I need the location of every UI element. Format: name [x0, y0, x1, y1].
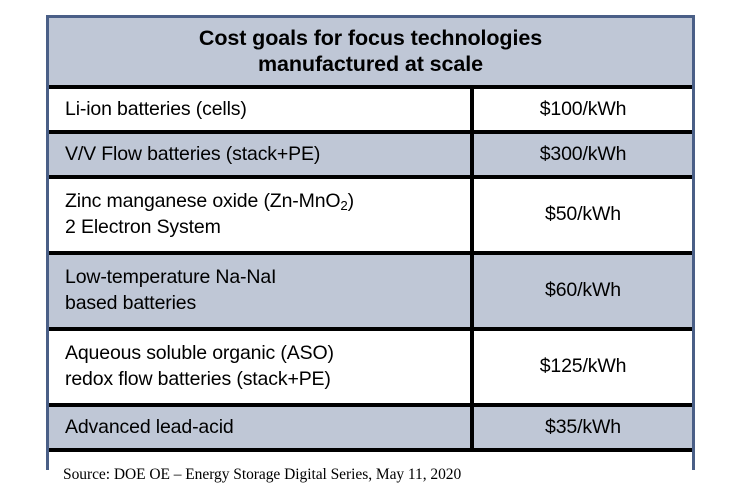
table-cell-cost: $50/kWh — [474, 179, 692, 251]
table-cell-line: based batteries — [65, 291, 470, 317]
table-cell-line: redox flow batteries (stack+PE) — [65, 367, 470, 393]
table-cell-technology: Zinc manganese oxide (Zn-MnO2) 2 Electro… — [49, 179, 474, 251]
table-title: Cost goals for focus technologies manufa… — [49, 18, 692, 89]
table-cell-line: 2 Electron System — [65, 215, 470, 241]
table-inner: Cost goals for focus technologies manufa… — [49, 18, 692, 467]
source-text: Source: DOE OE – Energy Storage Digital … — [63, 466, 461, 484]
table-row: V/V Flow batteries (stack+PE) $300/kWh — [49, 134, 692, 179]
table-cell-technology: V/V Flow batteries (stack+PE) — [49, 134, 474, 175]
formula-prefix: Zinc manganese oxide (Zn-MnO — [65, 190, 340, 212]
table-cell-technology: Aqueous soluble organic (ASO) redox flow… — [49, 331, 474, 403]
table-row: Advanced lead-acid $35/kWh — [49, 407, 692, 452]
table-cell-line: Zinc manganese oxide (Zn-MnO2) — [65, 189, 470, 215]
table-cell-line: $125/kWh — [540, 354, 627, 380]
table-cell-technology: Li-ion batteries (cells) — [49, 89, 474, 130]
table-cell-cost: $100/kWh — [474, 89, 692, 130]
table-cell-cost: $125/kWh — [474, 331, 692, 403]
subscript-2: 2 — [340, 198, 347, 213]
table-cell-line: $60/kWh — [545, 278, 621, 304]
table-row: Aqueous soluble organic (ASO) redox flow… — [49, 331, 692, 407]
table-cell-line: Low-temperature Na-NaI — [65, 265, 470, 291]
table-cell-line: V/V Flow batteries (stack+PE) — [65, 142, 470, 168]
table-row: Zinc manganese oxide (Zn-MnO2) 2 Electro… — [49, 179, 692, 255]
table-cell-cost: $300/kWh — [474, 134, 692, 175]
table-cell-line: Aqueous soluble organic (ASO) — [65, 341, 470, 367]
table-cell-cost: $60/kWh — [474, 255, 692, 327]
table-row: Low-temperature Na-NaI based batteries $… — [49, 255, 692, 331]
formula-suffix: ) — [348, 190, 354, 212]
table-cell-cost: $35/kWh — [474, 407, 692, 448]
table-cell-line: Advanced lead-acid — [65, 415, 470, 441]
source-row: Source: DOE OE – Energy Storage Digital … — [49, 452, 692, 498]
table-cell-technology: Advanced lead-acid — [49, 407, 474, 448]
table-cell-line: Li-ion batteries (cells) — [65, 97, 470, 123]
table-cell-technology: Low-temperature Na-NaI based batteries — [49, 255, 474, 327]
table-row: Li-ion batteries (cells) $100/kWh — [49, 89, 692, 134]
cost-goals-table: Cost goals for focus technologies manufa… — [46, 15, 695, 470]
